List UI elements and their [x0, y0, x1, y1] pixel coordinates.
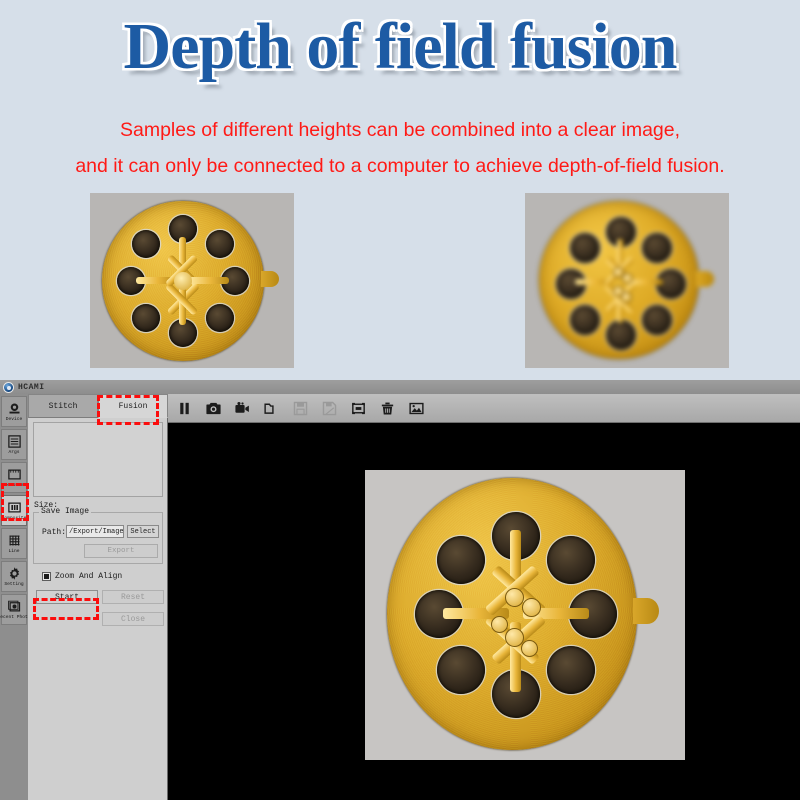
sidebar-item-setting[interactable]: Setting	[1, 561, 27, 592]
select-button[interactable]: Select	[127, 525, 159, 538]
microscope-software-window: HCAMI Device Args	[0, 380, 800, 800]
app-title: HCAMI	[18, 383, 45, 392]
zoom-and-align-label: Zoom And Align	[55, 572, 122, 581]
subtitle-line-1: Samples of different heights can be comb…	[0, 119, 800, 142]
fit-to-screen-icon[interactable]	[350, 400, 367, 417]
sidebar-label: Recent Photo	[0, 615, 31, 621]
path-input[interactable]: /Export/Image	[66, 525, 124, 538]
image-viewer	[168, 394, 800, 800]
sidebar-item-measure[interactable]: Measure	[1, 462, 27, 493]
sidebar-label: Measure	[4, 483, 23, 489]
zoom-and-align-row[interactable]: Zoom And Align	[42, 572, 122, 581]
sample-photo-blurred	[525, 193, 729, 368]
sidebar-label: Line	[8, 549, 19, 555]
camera-icon	[7, 401, 22, 416]
sidebar-label: Args	[8, 450, 19, 456]
sliders-icon	[7, 434, 22, 449]
sample-photo-sharp-center	[90, 193, 294, 368]
brass-plate-illustration	[525, 193, 729, 368]
trash-icon[interactable]	[379, 400, 396, 417]
poster-header: Depth of field fusion Samples of differe…	[0, 0, 800, 190]
start-button[interactable]: Start	[36, 590, 98, 604]
brass-plate-illustration	[365, 470, 685, 760]
panel-tabbar: Stitch Fusion	[28, 394, 168, 418]
photos-icon	[7, 599, 22, 614]
sidebar-label: Composite	[2, 516, 27, 522]
close-button[interactable]: Close	[102, 612, 164, 626]
save-icon[interactable]	[292, 400, 309, 417]
reset-button[interactable]: Reset	[102, 590, 164, 604]
composite-panel: Stitch Fusion Size: Save Image Path: /Ex…	[28, 394, 168, 800]
sidebar-item-recent-photo[interactable]: Recent Photo	[1, 594, 27, 625]
sidebar: Device Args Measure	[0, 394, 28, 800]
export-button[interactable]: Export	[84, 544, 158, 558]
sidebar-item-args[interactable]: Args	[1, 429, 27, 460]
sidebar-item-line[interactable]: Line	[1, 528, 27, 559]
camera-lens-icon	[3, 382, 14, 393]
fusion-preview-box[interactable]	[33, 422, 163, 497]
save-as-icon[interactable]	[321, 400, 338, 417]
sidebar-label: Device	[6, 417, 23, 423]
gear-icon	[7, 566, 22, 581]
tab-fusion[interactable]: Fusion	[98, 394, 168, 418]
video-camera-icon[interactable]	[234, 400, 251, 417]
open-folder-icon[interactable]	[263, 400, 280, 417]
pause-icon[interactable]	[176, 400, 193, 417]
sidebar-label: Setting	[4, 582, 23, 588]
sidebar-item-composite[interactable]: Composite	[1, 495, 27, 526]
window-titlebar: HCAMI	[0, 380, 800, 394]
viewer-toolbar	[168, 394, 800, 423]
snapshot-camera-icon[interactable]	[205, 400, 222, 417]
fused-result-image[interactable]	[365, 470, 685, 760]
viewer-canvas[interactable]	[168, 423, 800, 800]
grid-icon	[7, 533, 22, 548]
sidebar-item-device[interactable]: Device	[1, 396, 27, 427]
panels-icon	[7, 500, 22, 515]
save-image-group-title: Save Image	[39, 507, 91, 516]
tab-stitch[interactable]: Stitch	[28, 394, 98, 418]
brass-plate-illustration	[90, 193, 294, 368]
page-title: Depth of field fusion	[0, 8, 800, 86]
gallery-icon[interactable]	[408, 400, 425, 417]
path-label: Path:	[42, 528, 66, 537]
save-image-group: Save Image Path: /Export/Image Select Ex…	[33, 512, 163, 564]
zoom-and-align-checkbox[interactable]	[42, 572, 51, 581]
subtitle-line-2: and it can only be connected to a comput…	[0, 155, 800, 178]
ruler-frame-icon	[7, 467, 22, 482]
